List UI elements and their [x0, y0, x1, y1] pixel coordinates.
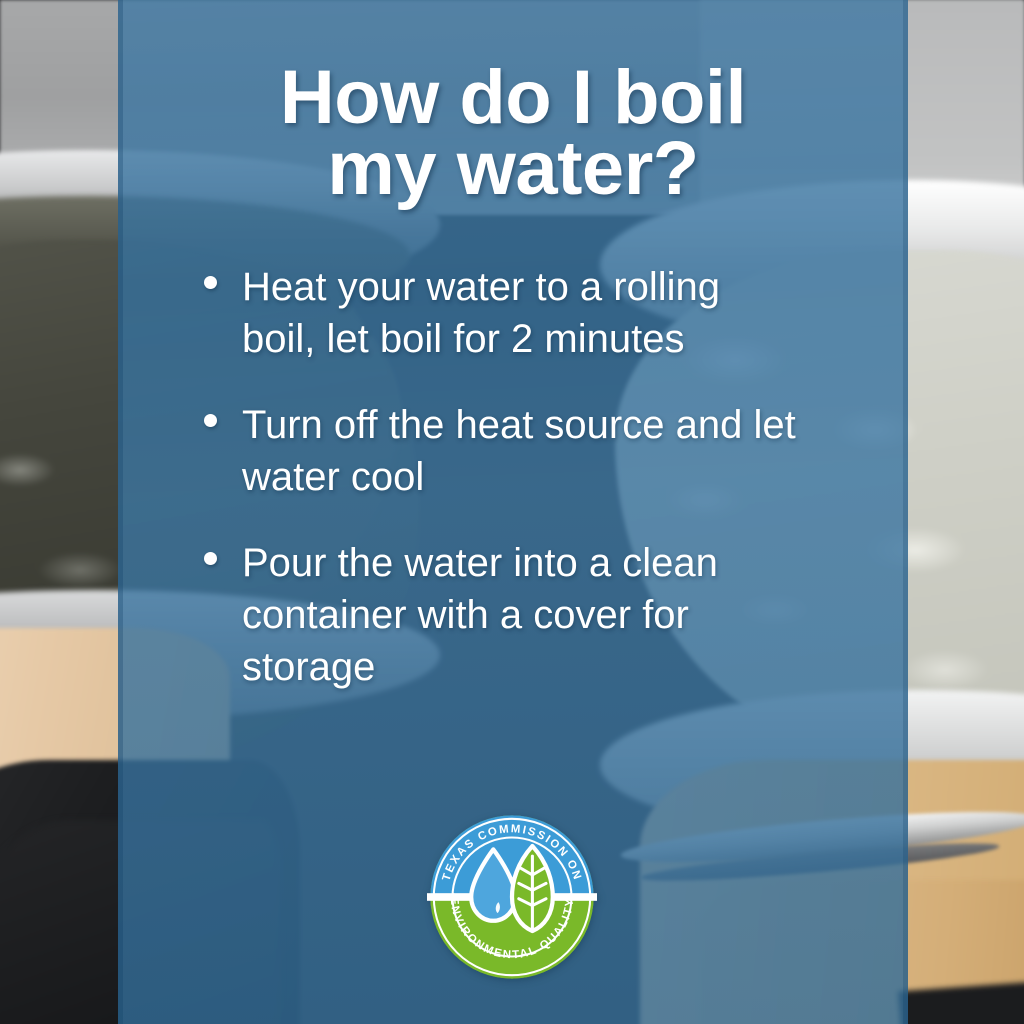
infographic-canvas: How do I boil my water? Heat your water …: [0, 0, 1024, 1024]
bullet-dot-icon: [204, 276, 217, 289]
tceq-seal-logo: TEXAS COMMISSION ON ENVIRONMENTAL QUALIT…: [419, 812, 605, 982]
list-item: Turn off the heat source and let water c…: [242, 399, 802, 503]
list-item: Pour the water into a clean container wi…: [242, 537, 802, 693]
instruction-list: Heat your water to a rolling boil, let b…: [118, 261, 908, 693]
bullet-dot-icon: [204, 414, 217, 427]
list-item: Heat your water to a rolling boil, let b…: [242, 261, 802, 365]
bullet-dot-icon: [204, 552, 217, 565]
seal-container: TEXAS COMMISSION ON ENVIRONMENTAL QUALIT…: [0, 812, 1024, 982]
list-item-text: Turn off the heat source and let water c…: [242, 403, 796, 499]
page-title: How do I boil my water?: [118, 62, 908, 205]
list-item-text: Heat your water to a rolling boil, let b…: [242, 265, 720, 361]
list-item-text: Pour the water into a clean container wi…: [242, 541, 718, 689]
